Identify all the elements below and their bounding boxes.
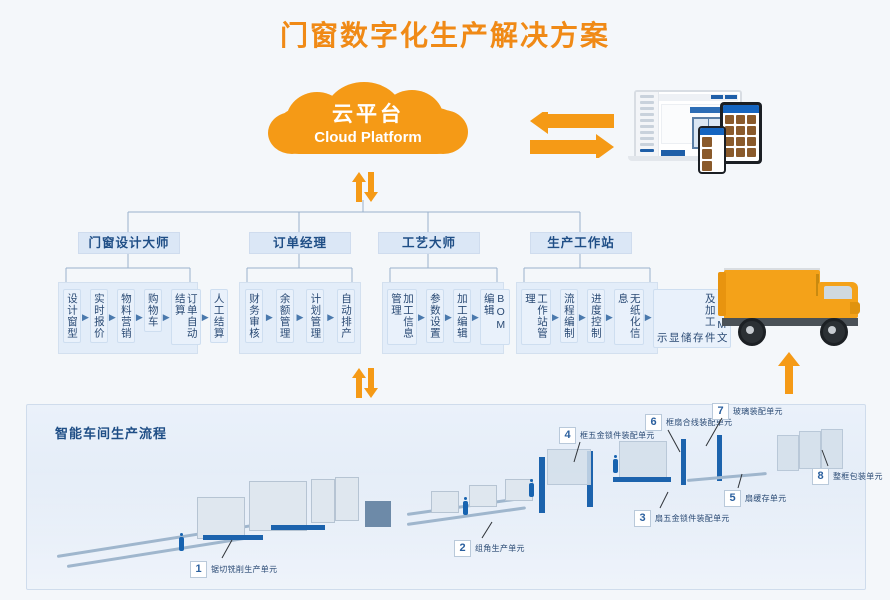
glass-panel	[777, 435, 799, 471]
cloud-bidirectional-arrow	[352, 172, 378, 207]
sidebar-line	[640, 119, 654, 122]
phone-appbar	[700, 128, 724, 135]
machine-unit	[197, 497, 245, 539]
machine-base	[203, 535, 263, 540]
toolbar-button	[725, 95, 737, 99]
product-thumb	[725, 126, 734, 135]
workshop-unit-2[interactable]: 2 组角生产单元	[454, 540, 525, 557]
truck-wheel	[738, 318, 766, 346]
module-header-process-master[interactable]: 工艺大师	[378, 232, 480, 254]
machine-unit	[311, 479, 335, 523]
devices-sync-arrow	[530, 112, 614, 163]
frame-post	[717, 435, 722, 481]
product-thumb	[736, 137, 745, 146]
product-thumb	[736, 148, 745, 157]
laptop-sidebar	[636, 92, 659, 158]
phone-device	[698, 126, 726, 174]
product-thumb	[747, 148, 756, 157]
unit-number: 7	[712, 403, 729, 420]
product-thumb	[725, 115, 734, 124]
step-arrow-icon: ▶	[644, 312, 653, 323]
glass-panel	[821, 429, 843, 469]
workshop-unit-8[interactable]: 8 整框包装单元	[812, 468, 883, 485]
machine-unit	[469, 485, 497, 507]
workshop-unit-3[interactable]: 3 扇五金锁件装配单元	[634, 510, 730, 527]
page-title: 门窗数字化生产解决方案	[0, 14, 890, 54]
product-thumb	[725, 148, 734, 157]
sidebar-line	[640, 131, 654, 134]
module-header-order-manager[interactable]: 订单经理	[249, 232, 351, 254]
step-arrow-icon: ▶	[471, 312, 480, 323]
step-chip[interactable]: 实时报价	[90, 289, 108, 343]
device-mockup-group	[628, 88, 780, 176]
phone-product-grid	[700, 135, 724, 172]
step-arrow-icon: ▶	[162, 312, 171, 323]
product-thumb	[736, 126, 745, 135]
step-chip[interactable]: 流程编制	[560, 289, 578, 343]
step-chip[interactable]: 财务审核	[245, 289, 263, 343]
truck-grill	[850, 302, 860, 314]
module-header-design-master[interactable]: 门窗设计大师	[78, 232, 180, 254]
step-arrow-icon: ▶	[265, 312, 274, 323]
step-chip[interactable]: 订单自动结算	[171, 289, 201, 345]
unit-number: 6	[645, 414, 662, 431]
truck-cargo-box	[724, 270, 820, 318]
glass-panel	[799, 431, 821, 469]
tablet-device	[720, 102, 762, 164]
step-chip[interactable]: 无纸化信息	[614, 289, 644, 345]
step-chip[interactable]: 工作站管理	[521, 289, 551, 345]
truck-wheel	[820, 318, 848, 346]
unit-label: 组角生产单元	[475, 543, 525, 554]
sidebar-line	[640, 125, 654, 128]
truck-tail-door	[718, 272, 726, 316]
worker-figure	[463, 501, 468, 515]
product-thumb	[736, 115, 745, 124]
step-arrow-icon: ▶	[326, 312, 335, 323]
truck-window	[824, 286, 852, 299]
laptop-toolbar	[659, 94, 738, 101]
unit-label: 锯切铣削生产单元	[211, 564, 277, 575]
product-thumb	[702, 161, 712, 171]
unit-label: 玻璃装配单元	[733, 406, 783, 417]
workshop-bidirectional-arrow	[352, 368, 378, 403]
unit-number: 4	[559, 427, 576, 444]
machine-unit	[335, 477, 359, 521]
unit-number: 3	[634, 510, 651, 527]
cloud-text: 云平台 Cloud Platform	[268, 102, 468, 148]
tablet-screen	[723, 105, 759, 161]
sidebar-line	[640, 143, 654, 146]
step-chip[interactable]: 计划管理	[306, 289, 324, 343]
step-arrow-icon: ▶	[135, 312, 144, 323]
cloud-platform[interactable]: 云平台 Cloud Platform	[268, 82, 468, 160]
wheel-hub	[746, 326, 754, 334]
product-thumb	[702, 137, 712, 147]
toolbar-button	[711, 95, 723, 99]
sidebar-line	[640, 137, 654, 140]
unit-number: 1	[190, 561, 207, 578]
module-body-design-master: 设计窗型 ▶ 实时报价 ▶ 物料营销 ▶ 购物车 ▶ 订单自动结算 ▶ 人工结算	[58, 282, 198, 354]
step-chip[interactable]: 进度控制	[587, 289, 605, 343]
unit-number: 8	[812, 468, 829, 485]
tablet-product-grid	[723, 113, 759, 159]
unit-label: 框五金锁件装配单元	[580, 430, 655, 441]
step-chip[interactable]: 余额管理	[276, 289, 294, 343]
module-body-production-workstation: 工作站管理 ▶ 流程编制 ▶ 进度控制 ▶ 无纸化信息 ▶ BOM及加工 文件存…	[516, 282, 658, 354]
step-chip[interactable]: 物料营销	[117, 289, 135, 343]
product-thumb	[747, 126, 756, 135]
step-arrow-icon: ▶	[201, 312, 210, 323]
workshop-floor	[27, 469, 865, 589]
glass-panel	[619, 441, 667, 479]
product-thumb	[747, 137, 756, 146]
worker-figure	[529, 483, 534, 497]
sidebar-line-active	[640, 149, 654, 152]
frame-post	[539, 457, 545, 513]
step-arrow-icon: ▶	[108, 312, 117, 323]
sidebar-line	[640, 107, 654, 110]
product-thumb	[747, 115, 756, 124]
wheel-hub	[828, 326, 836, 334]
unit-label: 整框包装单元	[833, 471, 883, 482]
module-body-order-manager: 财务审核 ▶ 余额管理 ▶ 计划管理 ▶ 自动排产	[239, 282, 361, 354]
step-chip[interactable]: 自动排产	[337, 289, 355, 343]
step-arrow-icon: ▶	[81, 312, 90, 323]
workshop-unit-1[interactable]: 1 锯切铣削生产单元	[190, 561, 277, 578]
cloud-label-cn: 云平台	[268, 102, 468, 128]
step-arrow-icon: ▶	[417, 312, 426, 323]
step-chip[interactable]: 设计窗型	[63, 289, 81, 343]
product-thumb	[702, 149, 712, 159]
unit-label: 扇五金锁件装配单元	[655, 513, 730, 524]
module-body-process-master: 加工信息管理 ▶ 参数设置 ▶ 加工编辑 ▶ BOM编辑	[382, 282, 504, 354]
delivery-truck	[712, 262, 872, 352]
workshop-title: 智能车间生产流程	[55, 423, 167, 442]
unit-number: 5	[724, 490, 741, 507]
workshop-unit-4[interactable]: 4 框五金锁件装配单元	[559, 427, 655, 444]
cloud-label-en: Cloud Platform	[268, 128, 468, 148]
shipping-up-arrow	[778, 352, 800, 399]
robot-arm	[365, 501, 391, 527]
step-arrow-icon: ▶	[605, 312, 614, 323]
workshop-unit-7[interactable]: 7 玻璃装配单元	[712, 403, 783, 420]
phone-screen	[700, 128, 724, 172]
step-arrow-icon: ▶	[578, 312, 587, 323]
step-chip[interactable]: 加工编辑	[453, 289, 471, 343]
machine-unit	[249, 481, 307, 531]
step-chip[interactable]: 购物车	[144, 289, 162, 332]
solution-diagram: 门窗数字化生产解决方案	[0, 0, 890, 600]
sidebar-line	[640, 113, 654, 116]
product-thumb	[725, 137, 734, 146]
step-arrow-icon: ▶	[444, 312, 453, 323]
frame-post	[681, 439, 686, 485]
step-chip[interactable]: 参数设置	[426, 289, 444, 343]
glass-panel	[547, 449, 591, 485]
tablet-appbar	[723, 105, 759, 113]
step-chip[interactable]: 人工结算	[210, 289, 228, 343]
machine-unit	[431, 491, 459, 513]
machine-base	[271, 525, 325, 530]
module-header-production-workstation[interactable]: 生产工作站	[530, 232, 632, 254]
worker-figure	[613, 459, 618, 473]
step-chip[interactable]: BOM编辑	[480, 289, 510, 345]
machine-base	[613, 477, 671, 482]
unit-label: 扇缓存单元	[745, 493, 787, 504]
unit-number: 2	[454, 540, 471, 557]
workshop-unit-5[interactable]: 5 扇缓存单元	[724, 490, 787, 507]
sidebar-line	[640, 95, 654, 98]
step-arrow-icon: ▶	[551, 312, 560, 323]
step-chip[interactable]: 加工信息管理	[387, 289, 417, 345]
worker-figure	[179, 537, 184, 551]
sidebar-line	[640, 101, 654, 104]
step-arrow-icon: ▶	[296, 312, 305, 323]
